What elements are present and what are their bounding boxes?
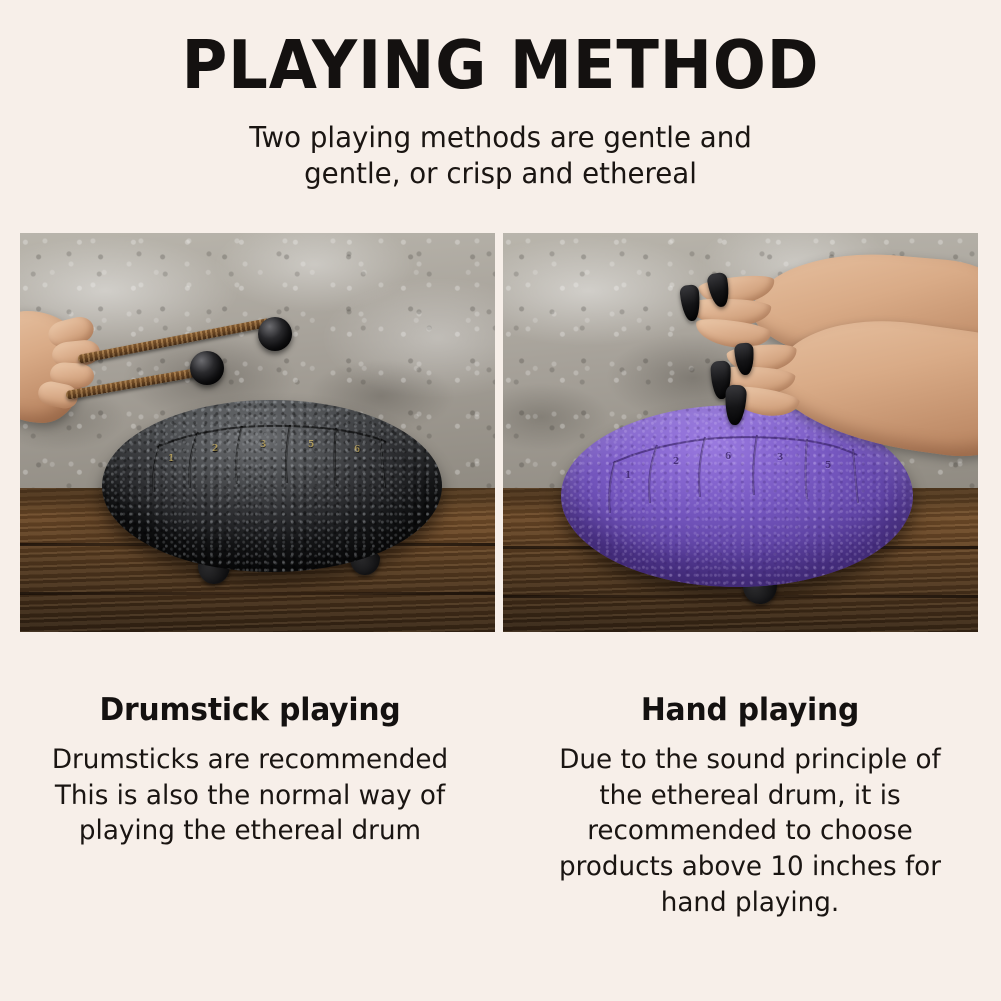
drum-note-number: 2 (673, 457, 679, 467)
subtitle-line-1: Two playing methods are gentle and (15, 120, 986, 156)
caption-line: recommended to choose (529, 813, 971, 849)
caption-line: playing the ethereal drum (29, 813, 471, 849)
drum-note-number: 5 (825, 461, 831, 471)
caption-body: Drumsticks are recommended This is also … (29, 742, 471, 849)
caption-line: Drumsticks are recommended (29, 742, 471, 778)
drum-note-number: 6 (725, 452, 731, 462)
tongue-engravings (102, 400, 442, 572)
drum-note-number: 6 (354, 445, 360, 455)
table-plank-seam (20, 592, 495, 595)
photo-row: 1 2 3 5 6 (20, 233, 978, 632)
steel-tongue-drum-dark: 1 2 3 5 6 (102, 400, 442, 572)
mallet-head (258, 317, 292, 351)
caption-body: Due to the sound principle of the ethere… (529, 742, 971, 920)
caption-heading: Drumstick playing (31, 692, 469, 728)
caption-line: the ethereal drum, it is (529, 778, 971, 814)
caption-hand: Hand playing Due to the sound principle … (500, 692, 1000, 920)
caption-heading: Hand playing (531, 692, 969, 728)
hand-photo: 1 2 6 3 5 (503, 233, 978, 632)
infographic-page: PLAYING METHOD Two playing methods are g… (0, 0, 1001, 1001)
caption-line: Due to the sound principle of (529, 742, 971, 778)
drum-note-number: 5 (308, 440, 314, 450)
caption-line: hand playing. (529, 885, 971, 921)
caption-row: Drumstick playing Drumsticks are recomme… (0, 692, 1001, 920)
mallet-head (190, 351, 224, 385)
caption-drumstick: Drumstick playing Drumsticks are recomme… (0, 692, 500, 920)
caption-line: This is also the normal way of (29, 778, 471, 814)
drum-note-number: 1 (625, 471, 631, 481)
subtitle-line-2: gentle, or crisp and ethereal (15, 156, 986, 192)
drumstick-photo: 1 2 3 5 6 (20, 233, 495, 632)
table-plank-seam (503, 595, 978, 598)
drum-note-number: 3 (777, 453, 783, 463)
page-title: PLAYING METHOD (35, 30, 966, 100)
drum-note-number: 1 (168, 454, 174, 464)
caption-line: products above 10 inches for (529, 849, 971, 885)
page-subtitle: Two playing methods are gentle and gentl… (15, 120, 986, 193)
drum-note-number: 3 (260, 440, 266, 450)
drum-note-number: 2 (212, 444, 218, 454)
